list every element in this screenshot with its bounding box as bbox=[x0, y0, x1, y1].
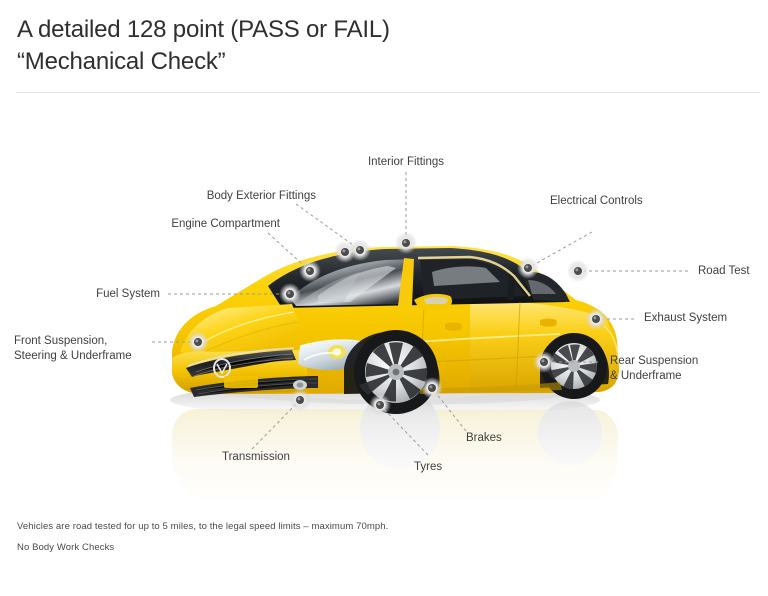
callout-exhaust-system: Exhaust System bbox=[644, 311, 764, 326]
callout-interior-fittings: Interior Fittings bbox=[336, 155, 476, 170]
header-divider bbox=[16, 92, 760, 93]
callout-road-test: Road Test bbox=[698, 264, 768, 279]
callout-front-suspension: Front Suspension, Steering & Underframe bbox=[14, 334, 146, 364]
callout-body-exterior-fittings: Body Exterior Fittings bbox=[150, 189, 316, 204]
callout-transmission: Transmission bbox=[222, 450, 332, 465]
callout-rear-suspension: Rear Suspension & Underframe bbox=[610, 354, 730, 384]
callout-brakes: Brakes bbox=[466, 431, 536, 446]
page-title: A detailed 128 point (PASS or FAIL) “Mec… bbox=[17, 14, 390, 78]
footer-no-bodywork-note: No Body Work Checks bbox=[17, 542, 114, 553]
callout-engine-compartment: Engine Compartment bbox=[110, 217, 280, 232]
footer-road-test-note: Vehicles are road tested for up to 5 mil… bbox=[17, 521, 388, 532]
callout-tyres: Tyres bbox=[414, 460, 474, 475]
callout-electrical-controls: Electrical Controls bbox=[550, 194, 700, 209]
inspection-infographic-page: A detailed 128 point (PASS or FAIL) “Mec… bbox=[0, 0, 768, 596]
callout-fuel-system: Fuel System bbox=[40, 287, 160, 302]
